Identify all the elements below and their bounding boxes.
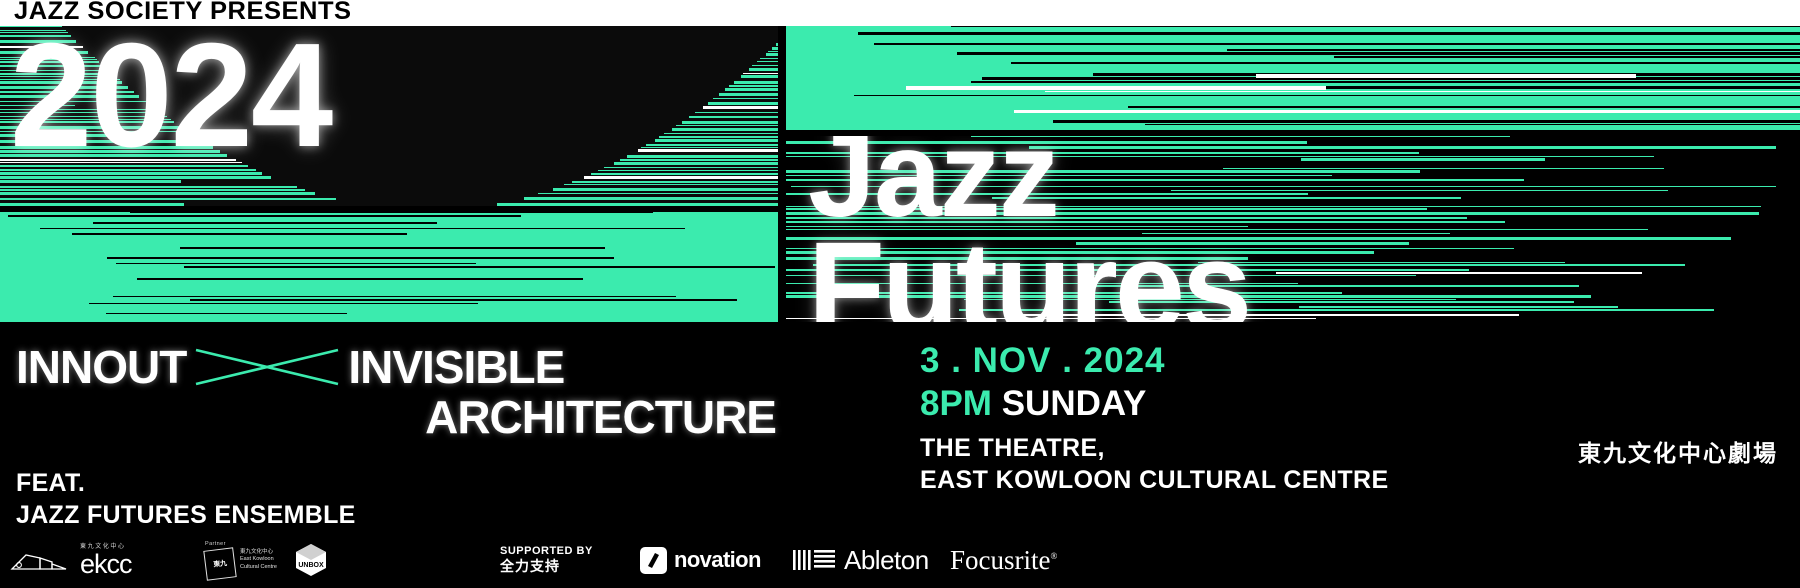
focusrite-wordmark: Focusrite® [950,545,1057,576]
title-panel: Jazz Futures [786,136,1800,322]
partner-line-3: Cultural Centre [240,564,277,571]
presenter-strip: JAZZ SOCIETY PRESENTS [0,0,1800,26]
event-time-row: 8PM SUNDAY [920,383,1389,426]
event-details: 3 . NOV . 2024 8PM SUNDAY THE THEATRE, E… [920,340,1389,496]
logo-unbox: UNBOX [292,532,330,588]
info-section: INNOUT INVISIBLE ARCHITECTURE FEAT. JAZZ… [0,326,1800,581]
supported-by-block: SUPPORTED BY 全力支持 [500,532,593,588]
partner-line-2: East Kowloon [240,556,277,563]
green-scan-band-left [0,212,778,322]
x-cross-icon [192,346,342,388]
venue-block: THE THEATRE, EAST KOWLOON CULTURAL CENTR… [920,433,1389,496]
sponsor-row: 東九文化中心 ekcc Partner 東九 東九文化中心 East Kowlo… [0,532,1800,588]
presenter-text: JAZZ SOCIETY PRESENTS [14,0,352,26]
green-scan-block-top [786,26,1800,130]
acts-row-primary: INNOUT INVISIBLE [16,340,776,394]
logo-ekcc: 東九文化中心 ekcc [10,532,132,588]
partner-tile-icon: 東九 [203,547,236,580]
logo-ableton: Ableton [793,532,929,588]
supported-by-en: SUPPORTED BY [500,544,593,558]
logo-focusrite: Focusrite® [950,532,1057,588]
title-block: Jazz Futures [808,136,1249,322]
act-invisible: INVISIBLE [348,340,564,394]
unbox-wordmark: UNBOX [298,562,324,569]
ableton-wordmark: Ableton [844,545,929,576]
ekcc-wordmark: ekcc [80,552,132,576]
unbox-cube-icon: UNBOX [292,541,330,579]
feat-ensemble: JAZZ FUTURES ENSEMBLE [16,500,356,532]
year-text: 2024 [10,26,331,170]
event-date: 3 . NOV . 2024 [920,340,1389,383]
act-innout: INNOUT [16,340,186,394]
year-panel: 2024 [0,26,778,206]
featuring-block: FEAT. JAZZ FUTURES ENSEMBLE [16,468,356,531]
novation-wordmark: novation [674,547,761,573]
title-line-2: Futures [808,230,1249,322]
supported-by-cn: 全力支持 [500,558,593,576]
logo-partner-ekcc: Partner 東九 東九文化中心 East Kowloon Cultural … [205,532,277,588]
feat-label: FEAT. [16,468,356,500]
ekcc-building-icon [10,545,72,575]
partner-label: Partner [205,541,235,547]
novation-mark-icon [640,547,667,574]
scanline-texture-green-band [0,212,778,322]
venue-line-2: EAST KOWLOON CULTURAL CENTRE [920,465,1389,496]
partner-tile-text: 東九 [213,558,228,570]
partner-line-1: 東九文化中心 [240,549,277,556]
scanline-texture-green-top [786,26,1800,130]
acts-block: INNOUT INVISIBLE ARCHITECTURE [16,340,776,444]
event-day: SUNDAY [1002,384,1147,423]
venue-line-1: THE THEATRE, [920,433,1389,464]
venue-chinese: 東九文化中心劇場 [1578,434,1778,468]
focusrite-registered-mark: ® [1051,551,1058,561]
ableton-bars-icon [793,548,835,572]
event-time: 8PM [920,384,992,423]
partner-text-block: 東九文化中心 East Kowloon Cultural Centre [240,549,277,571]
logo-novation: novation [640,532,761,588]
act-architecture: ARCHITECTURE [16,390,776,444]
